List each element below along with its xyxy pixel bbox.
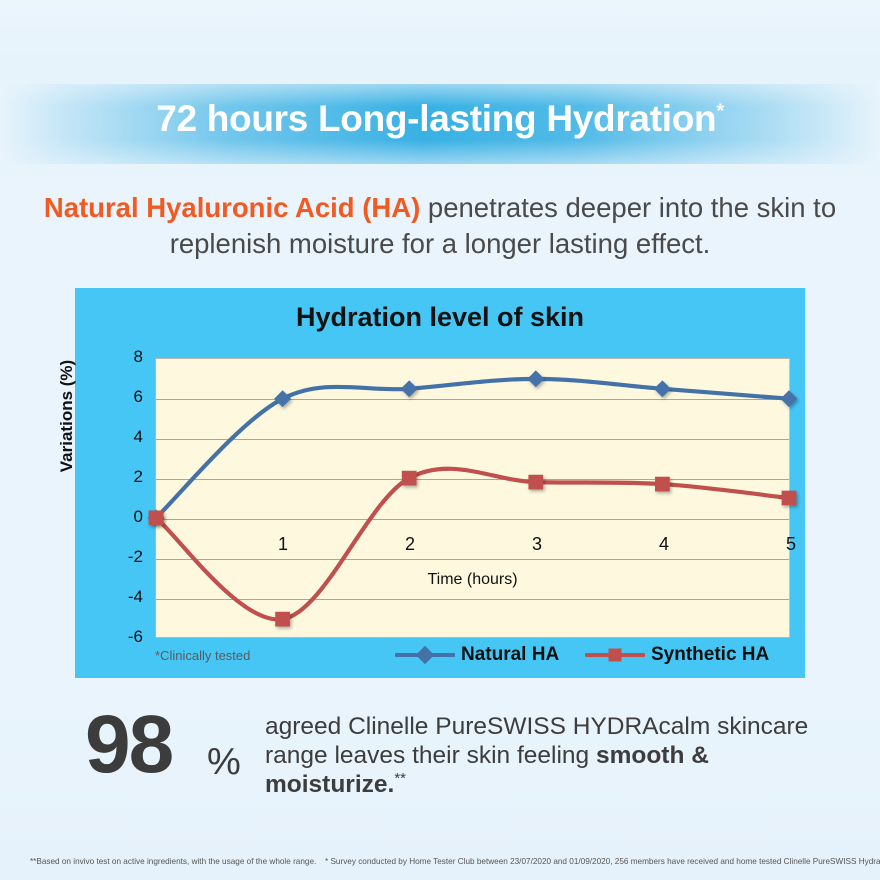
- chart-title: Hydration level of skin: [75, 302, 805, 333]
- y-axis-tick: 6: [101, 387, 143, 407]
- y-axis-tick: 4: [101, 427, 143, 447]
- footnote-right: * Survey conducted by Home Tester Club b…: [325, 857, 880, 866]
- data-point-marker: [149, 511, 164, 526]
- stat-line-1: agreed Clinelle PureSWISS HYDRAcalm: [265, 713, 710, 740]
- data-point-marker: [402, 471, 417, 486]
- legend-line-swatch: [395, 653, 455, 657]
- x-axis-tick: 5: [771, 534, 811, 555]
- data-point-marker: [528, 475, 543, 490]
- page-title: 72 hours Long-lasting Hydration*: [0, 98, 880, 140]
- footnote-left: **Based on invivo test on active ingredi…: [30, 857, 316, 866]
- subtitle: Natural Hyaluronic Acid (HA) penetrates …: [40, 190, 840, 262]
- stat-line-3-asterisks: **: [394, 770, 406, 787]
- y-axis-tick: 2: [101, 467, 143, 487]
- legend-label: Natural HA: [461, 644, 559, 666]
- data-point-marker: [275, 612, 290, 627]
- chart-series-svg: [156, 359, 789, 637]
- legend-line-swatch: [585, 653, 645, 657]
- data-point-marker: [655, 477, 670, 492]
- diamond-marker-icon: [416, 646, 434, 664]
- data-point-marker: [654, 380, 671, 397]
- y-axis-tick: -4: [101, 587, 143, 607]
- y-axis-label: Variations (%): [57, 306, 77, 526]
- series-line-2: [156, 469, 789, 620]
- legend-item-2[interactable]: Synthetic HA: [585, 644, 769, 666]
- y-axis-tick: 0: [101, 507, 143, 527]
- x-axis-label: Time (hours): [156, 571, 789, 589]
- data-point-marker: [401, 380, 418, 397]
- data-point-marker: [527, 370, 544, 387]
- data-point-marker: [782, 491, 797, 506]
- stat-number: 98: [85, 700, 172, 790]
- legend-label: Synthetic HA: [651, 644, 769, 666]
- chart-panel: Hydration level of skin 12345 Time (hour…: [75, 288, 805, 678]
- y-axis-tick: 8: [101, 347, 143, 367]
- subtitle-highlight: Natural Hyaluronic Acid (HA): [44, 192, 420, 223]
- series-line-1: [156, 379, 789, 518]
- chart-plot-area: 12345 Time (hours): [155, 358, 790, 638]
- chart-legend: *Clinically tested Natural HASynthetic H…: [75, 644, 805, 668]
- page-title-asterisk: *: [716, 101, 723, 123]
- x-axis-tick: 1: [263, 534, 303, 555]
- data-point-marker: [781, 390, 798, 407]
- stat-description: agreed Clinelle PureSWISS HYDRAcalm skin…: [265, 712, 835, 799]
- square-marker-icon: [609, 649, 622, 662]
- clinically-tested-note: *Clinically tested: [155, 648, 250, 663]
- y-axis-tick: -2: [101, 547, 143, 567]
- stat-percent-sign: %: [207, 742, 241, 782]
- x-axis-tick: 4: [644, 534, 684, 555]
- legend-item-1[interactable]: Natural HA: [395, 644, 559, 666]
- page-title-text: 72 hours Long-lasting Hydration: [156, 98, 716, 139]
- data-point-marker: [274, 390, 291, 407]
- x-axis-tick: 2: [390, 534, 430, 555]
- x-axis-tick: 3: [517, 534, 557, 555]
- stat-block: 98 % agreed Clinelle PureSWISS HYDRAcalm…: [75, 706, 835, 806]
